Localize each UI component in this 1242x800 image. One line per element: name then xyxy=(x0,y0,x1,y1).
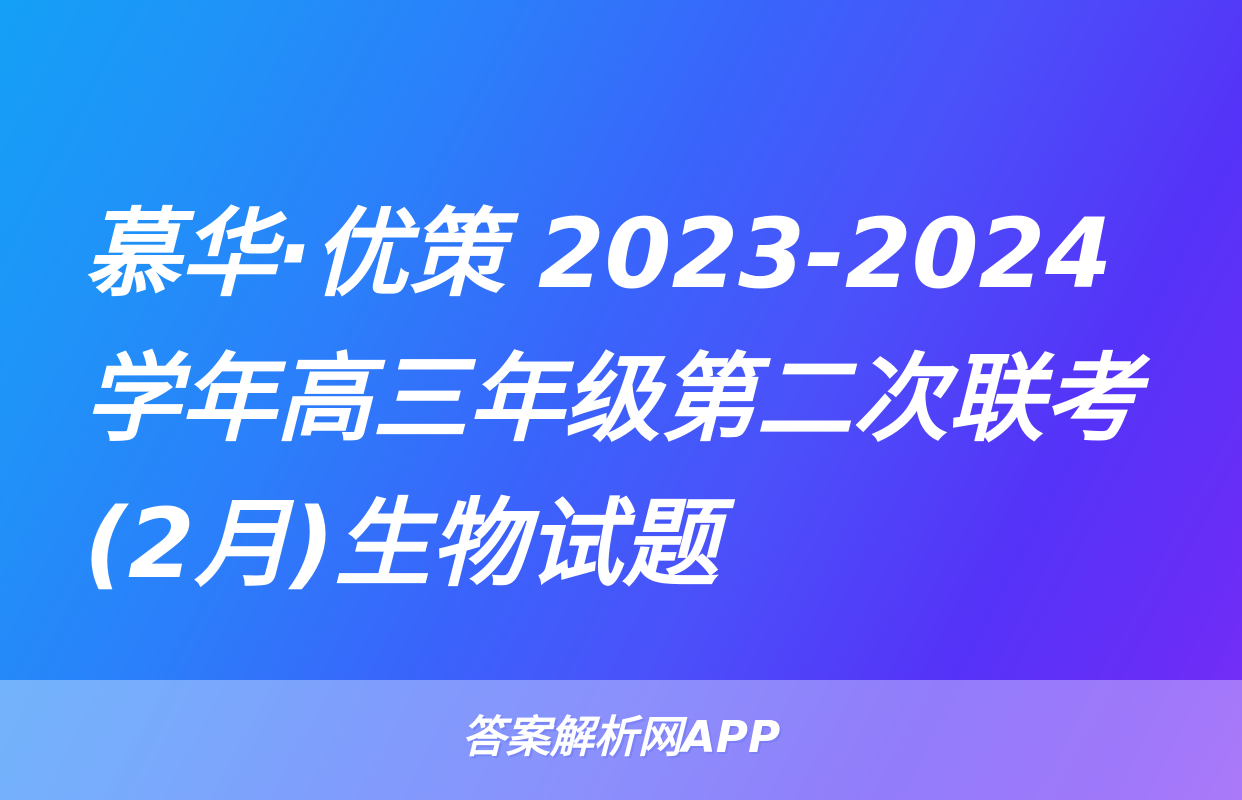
page-title: 慕华·优策 2023-2024学年高三年级第二次联考(2月)生物试题 xyxy=(84,182,1174,617)
title-block: 慕华·优策 2023-2024学年高三年级第二次联考(2月)生物试题 xyxy=(84,182,1174,617)
watermark-label: 答案解析网APP xyxy=(462,714,781,762)
title-card: 慕华·优策 2023-2024学年高三年级第二次联考(2月)生物试题 答案解析网… xyxy=(0,0,1242,800)
watermark: 答案解析网APP xyxy=(0,714,1242,762)
